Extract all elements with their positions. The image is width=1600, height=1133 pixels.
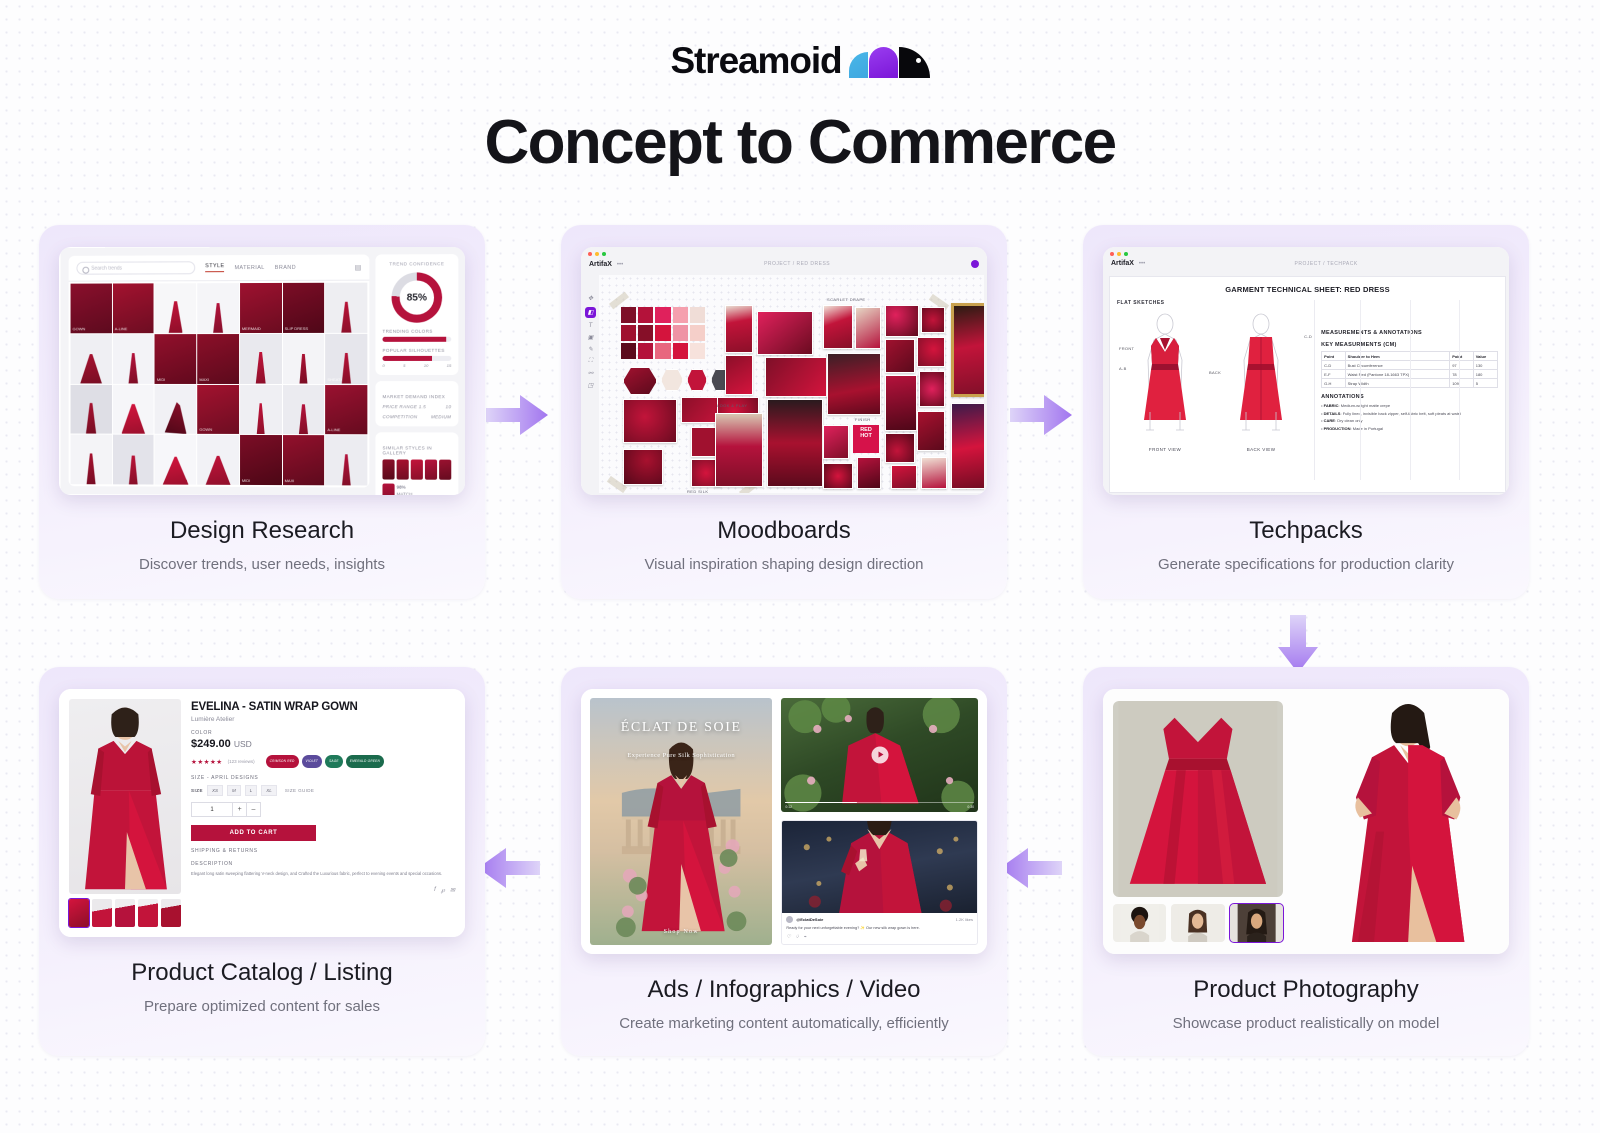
dr-tile[interactable] — [155, 435, 196, 485]
social-post-card[interactable]: @EclatDeSoie 1.2K likes Ready for your n… — [781, 820, 978, 945]
moodboard-label: LOOK & PLAY — [717, 403, 747, 408]
dr-toolbar: Search trends STYLE MATERIAL BRAND ▤ — [69, 255, 370, 282]
product-thumb[interactable] — [69, 899, 89, 927]
poster-headline: ÉCLAT DE SOIE — [590, 720, 772, 736]
stage-subtitle: Showcase product realistically on model — [1103, 1015, 1509, 1032]
framed-portrait — [951, 303, 984, 397]
quantity-stepper[interactable]: 1 + – — [191, 802, 261, 817]
moodboard-texture — [681, 397, 719, 423]
sheet-title: GARMENT TECHNICAL SHEET: RED DRESS — [1117, 285, 1498, 294]
quantity-value: 1 — [192, 807, 232, 813]
video-timeline[interactable] — [785, 802, 974, 804]
techpacks-screenshot: ArtifaX ••• PROJECT / TECHPACK GARMENT T… — [1103, 247, 1509, 495]
moodboard-photo — [715, 413, 763, 487]
design-research-screenshot: Search trends STYLE MATERIAL BRAND ▤ GOW… — [59, 247, 465, 495]
product-hero-image[interactable] — [69, 699, 181, 894]
bar-axis: 0 5 10 15 — [382, 363, 451, 368]
video-current-time: 0:12 — [785, 805, 792, 809]
dr-tile[interactable] — [197, 435, 239, 485]
moodboards-screenshot: ArtifaX ••• PROJECT / RED DRESS ✥ ◧ T ▣ … — [581, 247, 987, 495]
dr-tile[interactable]: MAXI — [197, 334, 239, 384]
size-option-xl[interactable]: XL — [261, 785, 277, 796]
stage-row-bottom: EVELINA - SATIN WRAP GOWN Lumière Atelie… — [39, 667, 1561, 1056]
moodboard-texture — [885, 433, 915, 463]
product-thumb[interactable] — [138, 899, 158, 927]
sketch-caption: BACK VIEW — [1234, 447, 1288, 452]
description-label: DESCRIPTION — [191, 861, 455, 867]
rating-row: ★★★★★ (123 reviews) CRIMSON RED VIOLET S… — [191, 755, 455, 768]
size-key: SIZE — [191, 788, 203, 793]
dr-tile[interactable] — [325, 283, 367, 333]
moodboard-photo — [857, 457, 881, 489]
product-gallery — [69, 699, 181, 927]
model-selector — [1113, 904, 1283, 942]
link-icon[interactable]: ⚯ — [588, 370, 593, 377]
stage-card-product-photography[interactable]: Product Photography Showcase product rea… — [1083, 667, 1529, 1056]
swatch-violet[interactable]: VIOLET — [302, 755, 323, 768]
pinterest-icon[interactable]: ℘ — [441, 887, 445, 894]
dr-tile[interactable]: MAXI — [283, 435, 325, 485]
dr-tile[interactable]: A-LINE — [325, 385, 367, 435]
dr-tile[interactable] — [325, 435, 367, 485]
ad-poster[interactable]: ÉCLAT DE SOIE Experience Pure Silk Sophi… — [590, 698, 772, 945]
product-description: Elegant long satin sweeping flattering V… — [191, 871, 455, 878]
moodboard-photo — [951, 403, 984, 489]
flat-lay-image[interactable] — [1113, 701, 1283, 897]
moodboard-canvas[interactable]: RED SILK LOOK & PLAY SCARLET DRAPE — [599, 275, 984, 493]
review-count[interactable]: (123 reviews) — [228, 759, 255, 764]
window-controls[interactable] — [581, 247, 987, 258]
moodboard-photo — [827, 353, 881, 415]
like-count: 1.2K likes — [956, 917, 973, 922]
moodboard-photo — [725, 355, 753, 395]
sketch-annotation-back: BACK — [1209, 370, 1221, 375]
sketch-back: BACK VIEW — [1234, 312, 1288, 452]
product-photography-screenshot — [1103, 689, 1509, 954]
techpack-sheet: GARMENT TECHNICAL SHEET: RED DRESS FLAT … — [1109, 276, 1506, 493]
dr-tile[interactable] — [113, 334, 154, 384]
shipping-returns-link[interactable]: SHIPPING & RETURNS — [191, 848, 455, 854]
moodboard-photo — [823, 305, 853, 349]
layers-icon[interactable]: ◳ — [588, 382, 594, 389]
poster-subhead: Experience Pure Silk Sophistication — [590, 752, 772, 759]
dr-tile[interactable]: MIDI — [240, 435, 282, 485]
gauge-value: 85% — [407, 292, 427, 303]
similar-match: 98% MATCH — [382, 484, 451, 495]
stage-subtitle: Visual inspiration shaping design direct… — [581, 556, 987, 573]
tab-style[interactable]: STYLE — [205, 263, 224, 272]
gauge-label: TREND CONFIDENCE — [382, 261, 451, 266]
grid-view-icon[interactable]: ▤ — [355, 263, 362, 271]
avatar — [786, 916, 793, 923]
moodboard-photo — [921, 457, 947, 489]
size-option-l[interactable]: L — [245, 785, 258, 796]
bar-label-colors: TRENDING COLORS — [382, 329, 451, 334]
dr-tile[interactable]: GOWN — [71, 284, 112, 334]
quantity-increment[interactable]: + — [232, 803, 246, 816]
sketch-annotation-ab: A-B — [1119, 366, 1127, 371]
image-icon[interactable]: ▣ — [588, 334, 594, 341]
color-swatch-grid — [621, 307, 705, 359]
color-swatches: CRIMSON RED VIOLET SAGE EMERALD GREEN — [266, 755, 384, 768]
measurements-section: MEASUREMENTS & ANNOTATIONS KEY MEASURMEN… — [1321, 300, 1498, 480]
play-icon[interactable] — [871, 746, 888, 763]
pen-icon[interactable]: ✎ — [588, 346, 593, 353]
stage-title: Ads / Infographics / Video — [581, 976, 987, 1004]
social-caption: Ready for your next unforgettable evenin… — [786, 926, 973, 932]
flat-sketches-section: FLAT SKETCHES — [1117, 300, 1315, 480]
moodboard-label: RED SILK — [687, 489, 708, 493]
moodboard-texture — [917, 337, 945, 367]
sketch-front: FRONT VIEW — [1138, 312, 1192, 452]
moodboard-label: FINISH — [855, 417, 871, 422]
dr-tile[interactable]: SLIP DRESS — [283, 283, 325, 333]
tool-rail[interactable]: ✥ ◧ T ▣ ✎ ⛶ ⚯ ◳ — [584, 295, 597, 389]
dr-tile[interactable]: GOWN — [197, 384, 239, 434]
dr-tile[interactable] — [71, 334, 112, 383]
stage-title: Product Photography — [1103, 976, 1509, 1004]
stage-subtitle: Prepare optimized content for sales — [59, 998, 465, 1015]
model-thumb-3[interactable] — [1230, 904, 1283, 942]
moodboard-texture — [919, 371, 945, 407]
video-controls[interactable]: 0:12 0:30 — [785, 802, 974, 809]
app-name: ArtifaX ••• — [589, 261, 623, 268]
social-handle[interactable]: @EclatDeSoie — [796, 917, 823, 922]
dr-insights-sidebar: TREND CONFIDENCE 85% TRENDING COLORS POP… — [375, 254, 458, 488]
similar-thumbs — [382, 459, 451, 479]
moodboard-photo — [765, 357, 827, 397]
stage-card-ads[interactable]: ÉCLAT DE SOIE Experience Pure Silk Sophi… — [561, 667, 1007, 1056]
swatch-emerald-green[interactable]: EMERALD GREEN — [346, 755, 384, 768]
dr-tile[interactable] — [155, 384, 196, 434]
color-label: COLOR — [191, 730, 455, 736]
social-post-header: @EclatDeSoie 1.2K likes — [786, 916, 973, 923]
confidence-gauge: 85% — [392, 272, 443, 322]
moodboard-photo — [757, 311, 813, 355]
product-listing-screenshot: EVELINA - SATIN WRAP GOWN Lumière Atelie… — [59, 689, 465, 937]
product-details: EVELINA - SATIN WRAP GOWN Lumière Atelie… — [191, 699, 455, 927]
moodboard-photo — [855, 307, 881, 349]
moodboard-texture — [917, 411, 945, 451]
dr-tile[interactable] — [283, 385, 325, 435]
social-post-image — [782, 821, 977, 914]
product-price: $249.00 USD — [191, 738, 455, 750]
comment-icon[interactable]: ♢ — [795, 934, 799, 940]
moodboard-photo — [725, 305, 753, 353]
window-controls[interactable] — [1103, 247, 1509, 258]
cursor-icon[interactable]: ✥ — [588, 295, 593, 302]
product-thumb[interactable] — [161, 899, 181, 927]
stage-title: Moodboards — [581, 517, 987, 545]
stage-title: Techpacks — [1103, 517, 1509, 545]
moodboard-label: SCARLET DRAPE — [827, 297, 865, 302]
product-brand: Lumière Atelier — [191, 716, 455, 723]
stage-subtitle: Generate specifications for production c… — [1103, 556, 1509, 573]
app-name: ArtifaX ••• — [1111, 260, 1145, 267]
kv-header: MARKET DEMAND INDEX — [382, 394, 451, 399]
breadcrumb: PROJECT / TECHPACK — [1295, 261, 1358, 267]
swatch-hex — [623, 367, 657, 395]
dr-tile[interactable] — [71, 435, 112, 485]
dr-image-grid: GOWN A-LINE MERMAID SLIP DRESS MIDI MAXI — [69, 281, 370, 488]
market-demand-panel: MARKET DEMAND INDEX PRICE RANGE 1.5 10 C… — [375, 381, 458, 426]
dr-tile[interactable] — [240, 384, 282, 434]
dr-tile[interactable] — [113, 435, 154, 485]
stage-card-design-research[interactable]: Search trends STYLE MATERIAL BRAND ▤ GOW… — [39, 225, 485, 599]
star-rating-icon: ★★★★★ — [191, 758, 223, 766]
app-menu-icon[interactable]: ••• — [617, 262, 623, 268]
facebook-icon[interactable]: f — [434, 887, 436, 894]
stage-card-product-listing[interactable]: EVELINA - SATIN WRAP GOWN Lumière Atelie… — [39, 667, 485, 1056]
product-title: EVELINA - SATIN WRAP GOWN — [191, 701, 455, 713]
size-guide-link[interactable]: SIZE GUIDE — [285, 788, 315, 793]
app-menu-icon[interactable]: ••• — [1139, 261, 1145, 267]
flat-sketches-label: FLAT SKETCHES — [1117, 300, 1309, 306]
share-icon[interactable]: ⌁ — [803, 934, 806, 940]
dr-tile[interactable]: MIDI — [155, 334, 196, 384]
stage-subtitle: Create marketing content automatically, … — [581, 1015, 987, 1032]
size-option-m[interactable]: M — [227, 785, 241, 796]
stage-title: Design Research — [59, 517, 465, 545]
moodboard-texture — [885, 339, 915, 373]
breadcrumb: PROJECT / RED DRESS — [764, 261, 830, 267]
dr-tile[interactable] — [155, 283, 196, 333]
model-hero-image[interactable] — [1293, 701, 1499, 942]
dr-tile[interactable] — [283, 334, 325, 384]
swatch-hex — [661, 369, 683, 391]
video-duration: 0:30 — [967, 805, 974, 809]
red-hot-card: REDHOT — [853, 425, 879, 453]
swatch-sage[interactable]: SAGE — [325, 755, 343, 768]
tab-brand[interactable]: BRAND — [275, 264, 296, 270]
product-thumb[interactable] — [92, 899, 112, 927]
kv-row: COMPETITION MEDIUM — [382, 414, 451, 419]
stage-grid: Search trends STYLE MATERIAL BRAND ▤ GOW… — [39, 225, 1561, 1056]
sketch-annotation-front: FRONT — [1119, 346, 1134, 351]
social-actions: ♡ ♢ ⌁ — [786, 934, 973, 940]
moodboard-texture — [623, 399, 677, 443]
stage-row-top: Search trends STYLE MATERIAL BRAND ▤ GOW… — [39, 225, 1561, 599]
ads-screenshot: ÉCLAT DE SOIE Experience Pure Silk Sophi… — [581, 689, 987, 954]
moodboard-texture — [885, 375, 917, 431]
dr-tile[interactable]: A-LINE — [113, 283, 154, 333]
bar-track-colors — [382, 337, 451, 342]
size-label: SIZE - APRIL DESIGNS — [191, 775, 455, 781]
moodboard-photo — [823, 425, 849, 459]
stage-card-techpacks[interactable]: ArtifaX ••• PROJECT / TECHPACK GARMENT T… — [1083, 225, 1529, 599]
crop-icon[interactable]: ⛶ — [588, 358, 592, 365]
shapes-icon[interactable]: ◧ — [585, 307, 596, 318]
dr-tile[interactable] — [113, 384, 154, 434]
moodboard-photo — [767, 399, 823, 487]
text-icon[interactable]: T — [589, 323, 593, 329]
moodboard-texture — [623, 449, 663, 485]
product-thumb[interactable] — [115, 899, 135, 927]
poster-cta[interactable]: Shop Now — [590, 929, 772, 935]
bar-label-silhouettes: POPULAR SILHOUETTES — [382, 348, 451, 353]
page-title: Concept to Commerce — [0, 107, 1600, 178]
stage-title: Product Catalog / Listing — [59, 959, 465, 987]
dr-tile[interactable]: MERMAID — [240, 283, 282, 333]
brand-logo: Streamoid — [0, 40, 1600, 82]
search-input[interactable]: Search trends — [76, 261, 195, 274]
moodboard-photo — [891, 465, 917, 489]
swatch-hex — [687, 369, 707, 391]
dr-tile[interactable] — [197, 283, 239, 333]
model-thumb-1[interactable] — [1113, 904, 1166, 942]
quantity-decrement[interactable]: – — [246, 803, 260, 816]
streamoid-mark-icon — [849, 44, 930, 78]
product-thumbnails — [69, 899, 181, 927]
similar-styles-panel: SIMILAR STYLES IN GALLERY 98% — [375, 432, 458, 495]
sketch-caption: FRONT VIEW — [1138, 447, 1192, 452]
similar-label: SIMILAR STYLES IN GALLERY — [382, 445, 451, 455]
moodboard-photo — [823, 463, 853, 489]
kv-row: PRICE RANGE 1.5 10 — [382, 404, 451, 409]
swatch-crimson-red[interactable]: CRIMSON RED — [266, 755, 299, 768]
heart-icon[interactable]: ♡ — [786, 934, 790, 940]
sketch-annotation-cd: C-D — [1304, 334, 1312, 339]
bar-track-silhouettes — [382, 356, 451, 361]
size-selector: SIZE XS M L XL SIZE GUIDE — [191, 785, 455, 796]
ad-video[interactable]: 0:12 0:30 — [781, 698, 978, 812]
model-thumb-2[interactable] — [1171, 904, 1224, 942]
techpack-topbar: ArtifaX ••• PROJECT / TECHPACK — [1103, 258, 1509, 272]
tab-material[interactable]: MATERIAL — [234, 264, 264, 270]
size-option-xs[interactable]: XS — [207, 785, 223, 796]
avatar[interactable] — [971, 260, 979, 268]
dr-tile[interactable] — [71, 384, 112, 433]
social-share: f ℘ ✉ — [191, 887, 455, 894]
dr-gallery-pane: Search trends STYLE MATERIAL BRAND ▤ GOW… — [69, 255, 370, 488]
mail-icon[interactable]: ✉ — [450, 887, 455, 894]
social-post-footer: @EclatDeSoie 1.2K likes Ready for your n… — [782, 913, 977, 944]
moodboard-texture — [885, 305, 919, 337]
stage-subtitle: Discover trends, user needs, insights — [59, 556, 465, 573]
brand-name: Streamoid — [670, 40, 841, 82]
dr-tile[interactable] — [240, 334, 282, 384]
add-to-cart-button[interactable]: ADD TO CART — [191, 825, 316, 841]
stage-card-moodboards[interactable]: ArtifaX ••• PROJECT / RED DRESS ✥ ◧ T ▣ … — [561, 225, 1007, 599]
dr-tile[interactable]: SHEATH — [325, 334, 367, 384]
trend-confidence-panel: TREND CONFIDENCE 85% TRENDING COLORS POP… — [375, 254, 458, 375]
moodboard-topbar: ArtifaX ••• PROJECT / RED DRESS — [581, 258, 987, 273]
moodboard-texture — [921, 307, 945, 333]
